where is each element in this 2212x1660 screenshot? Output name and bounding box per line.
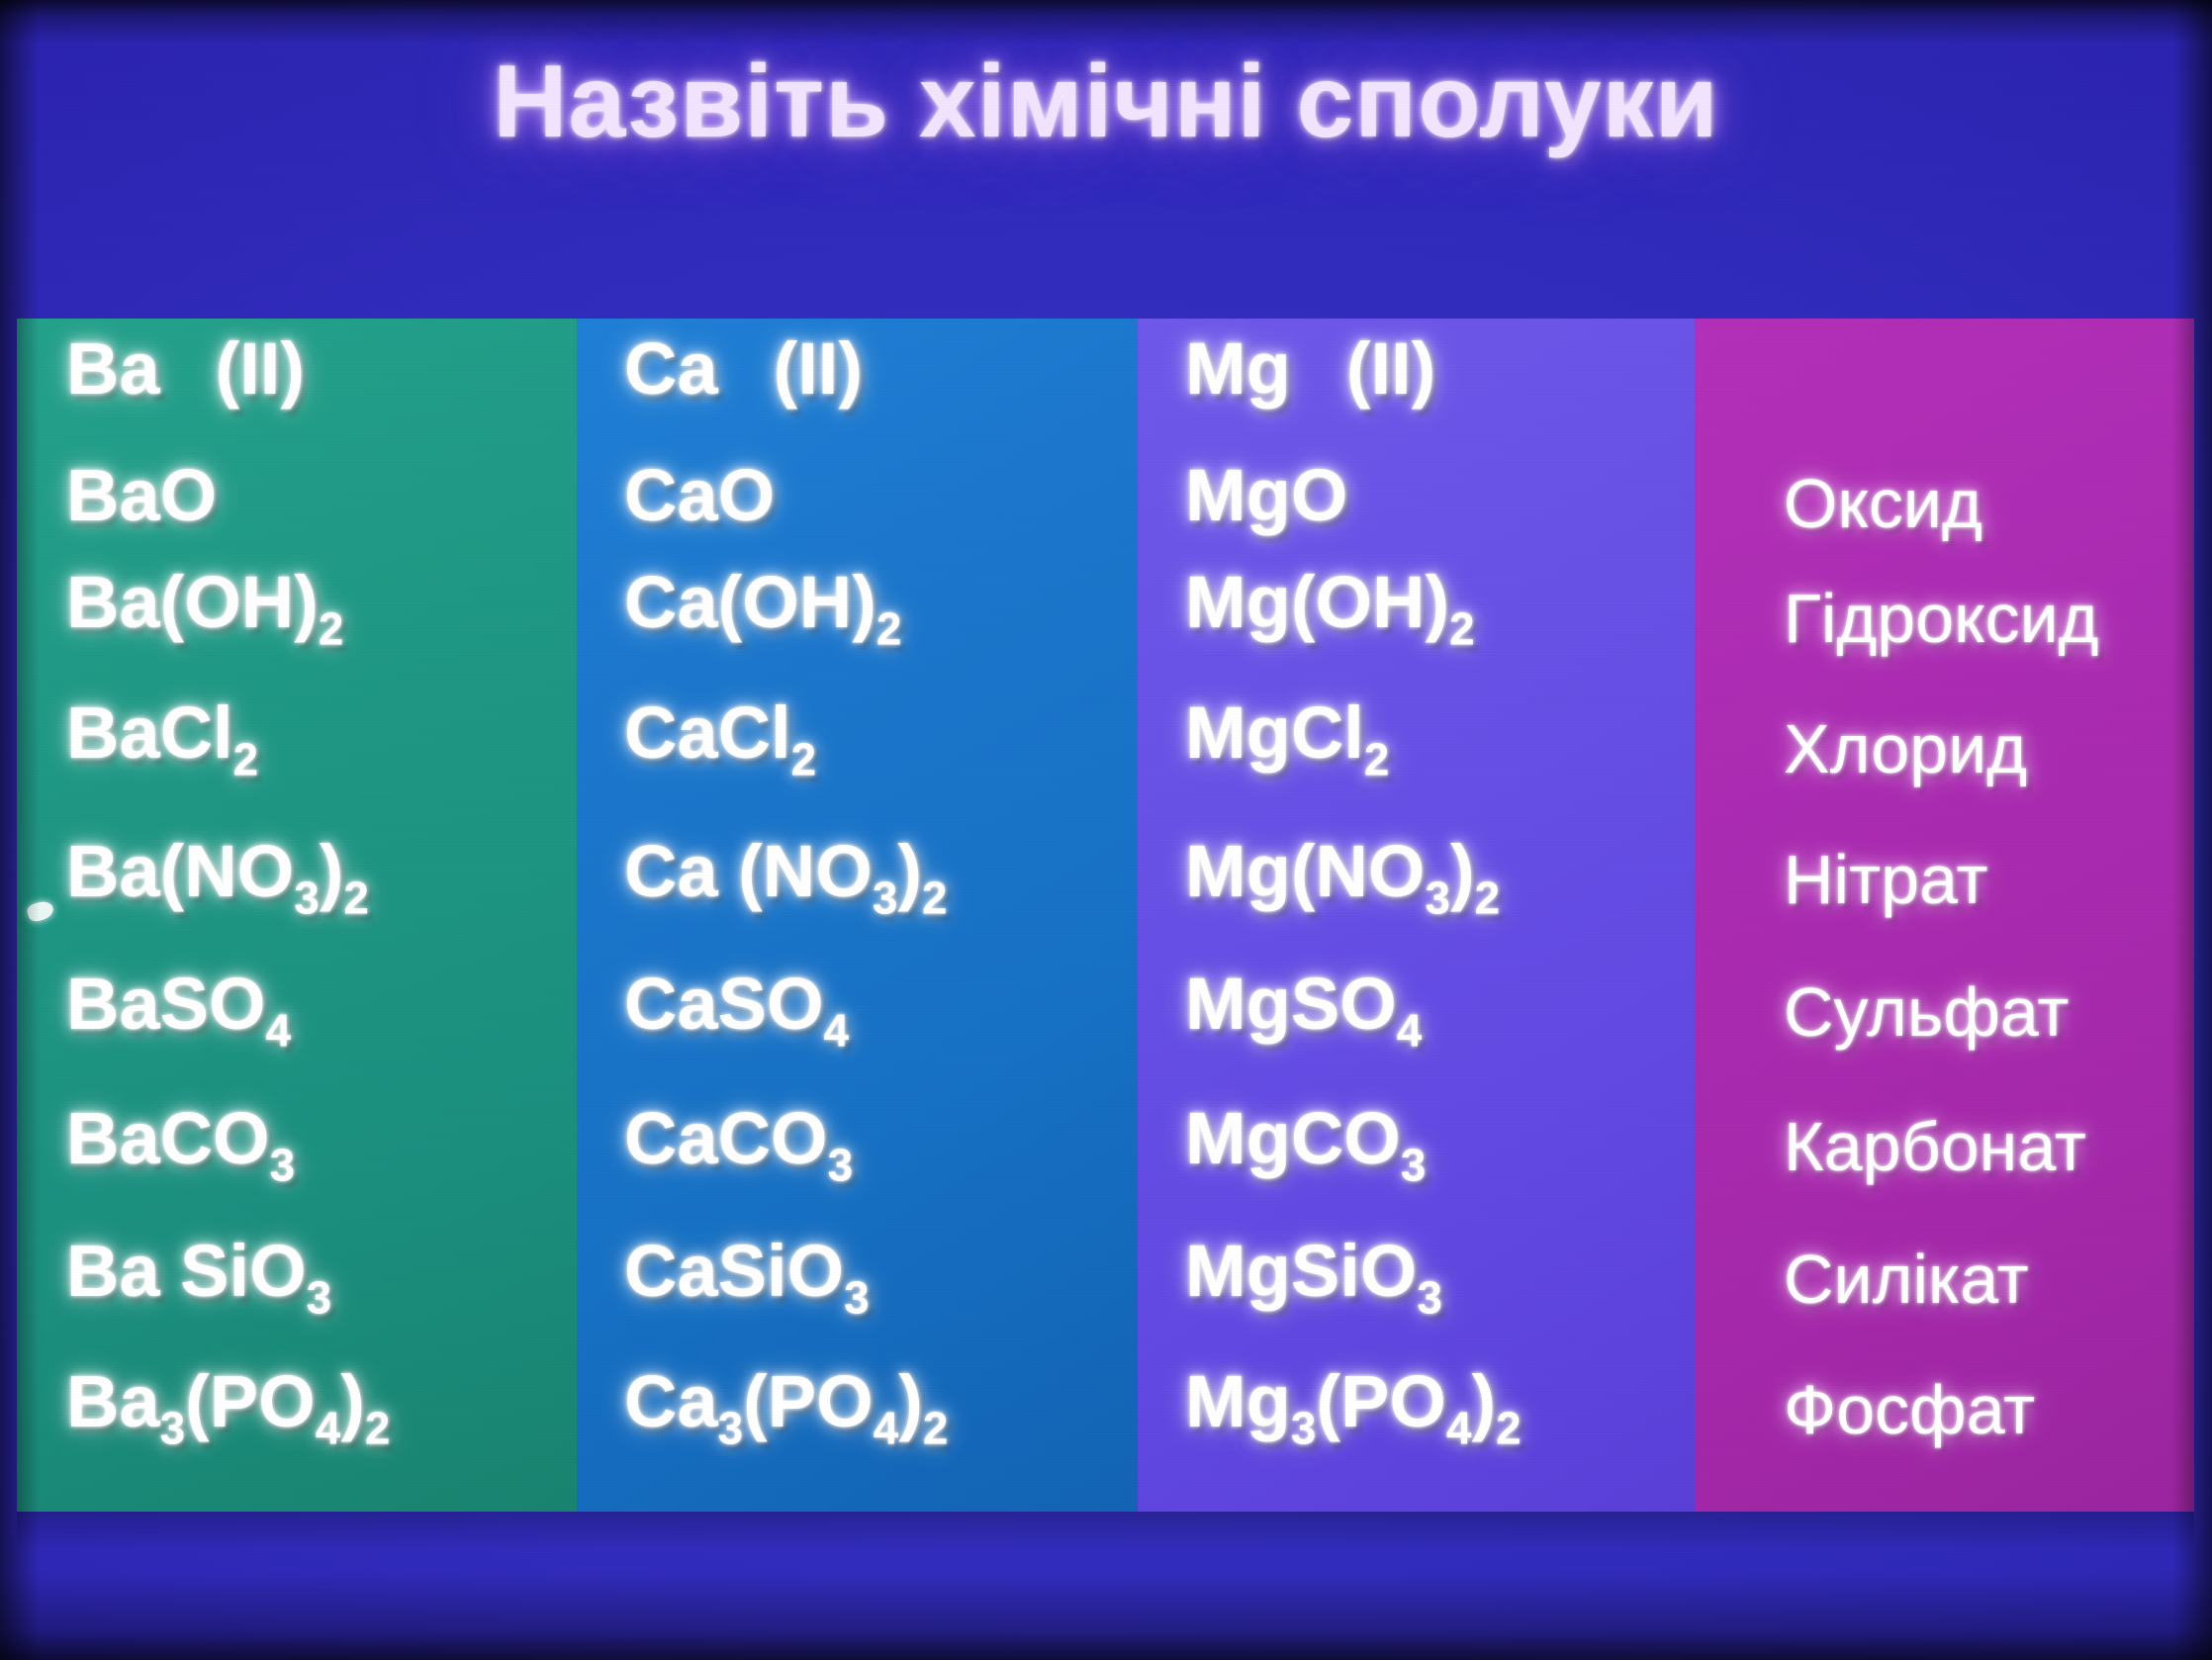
column-barium-header: Ba(II) [17,332,626,406]
formula-subscript: 2 [1475,872,1501,923]
formula-silicate: MgSiO3 [1138,1235,1742,1321]
formula-text: MgO [1185,454,1347,536]
formula-subscript: 2 [343,872,369,923]
formula-text: Ca (NO [624,830,873,912]
formula-text: Mg(OH) [1185,561,1449,643]
formula-text: ) [340,1360,365,1442]
column-compound-names: Оксид Гідроксид Хлорид Нітрат Сульфат Ка… [1695,319,2194,1512]
formula-text: (PO [185,1360,316,1442]
formula-phosphate: Ba3(PO4)2 [17,1365,626,1451]
name-silicate: Силікат [1695,1245,2212,1314]
formula-subscript: 2 [365,1402,391,1453]
name-hydroxide: Гідроксид [1695,584,2212,653]
name-oxide: Оксид [1695,469,2212,538]
formula-subscript: 4 [824,1004,850,1056]
name-nitrate: Нітрат [1695,845,2212,914]
formula-subscript: 4 [1446,1402,1472,1453]
element-symbol: Ba [66,327,160,410]
formula-nitrate: Ca (NO3)2 [577,835,1185,921]
formula-nitrate: Ba(NO3)2 [17,835,626,921]
formula-subscript: 2 [923,1402,949,1453]
formula-subscript: 4 [266,1004,292,1056]
formula-subscript: 3 [1401,1139,1427,1190]
formula-subscript: 3 [844,1271,870,1323]
formula-carbonate: CaCO3 [577,1102,1185,1188]
formula-text: ) [1450,830,1475,912]
formula-hydroxide: Ba(OH)2 [17,566,626,652]
formula-oxide: CaO [577,459,1185,532]
formula-subscript: 3 [828,1139,854,1190]
valence-label: (II) [1346,332,1435,406]
formula-subscript: 3 [1426,872,1451,923]
formula-subscript: 2 [1449,602,1475,654]
formula-subscript: 2 [791,733,817,784]
formula-subscript: 2 [876,602,902,654]
name-carbonate: Карбонат [1695,1112,2212,1181]
column-calcium: Ca(II) CaO Ca(OH)2 CaCl2 Ca (NO3)2 CaSO4… [577,319,1138,1512]
formula-subscript: 4 [874,1402,899,1453]
formula-text: Ba [66,1360,160,1442]
formula-text: Ba(NO [66,830,294,912]
formula-text: MgCO [1185,1097,1401,1179]
formula-sulfate: BaSO4 [17,968,626,1054]
formula-text: CaO [624,454,775,536]
formula-subscript: 4 [316,1402,341,1453]
column-magnesium: Mg(II) MgO Mg(OH)2 MgCl2 Mg(NO3)2 MgSO4 … [1138,319,1695,1512]
column-magnesium-header: Mg(II) [1138,332,1742,406]
compound-table: Ba(II) BaO Ba(OH)2 BaCl2 Ba(NO3)2 BaSO4 … [17,319,2194,1512]
formula-text: BaO [66,454,217,536]
element-symbol: Ca [624,327,718,410]
formula-chloride: BaCl2 [17,696,626,783]
formula-oxide: MgO [1138,459,1742,532]
formula-silicate: Ba SiO3 [17,1235,626,1321]
formula-text: CaSO [624,963,824,1045]
page-title: Назвіть хімічні сполуки [0,44,2212,161]
valence-label: (II) [774,332,863,406]
formula-silicate: CaSiO3 [577,1235,1185,1321]
formula-subscript: 3 [294,872,320,923]
formula-subscript: 2 [1364,733,1390,784]
column-magnesium-rows: Mg(II) MgO Mg(OH)2 MgCl2 Mg(NO3)2 MgSO4 … [1138,319,1695,1512]
band-shadow [17,1512,2194,1551]
formula-subscript: 3 [718,1402,744,1453]
column-barium-rows: Ba(II) BaO Ba(OH)2 BaCl2 Ba(NO3)2 BaSO4 … [17,319,577,1512]
formula-text: (PO [1316,1360,1446,1442]
formula-subscript: 2 [233,733,259,784]
formula-text: BaCl [66,692,233,774]
formula-text: CaCl [624,692,791,774]
formula-text: Ca [624,1360,718,1442]
formula-text: MgSO [1185,963,1397,1045]
formula-text: BaCO [66,1097,270,1179]
formula-subscript: 3 [307,1271,332,1323]
formula-text: ) [897,830,922,912]
column-calcium-header: Ca(II) [577,332,1185,406]
formula-hydroxide: Ca(OH)2 [577,566,1185,652]
name-chloride: Хлорид [1695,714,2212,784]
formula-hydroxide: Mg(OH)2 [1138,566,1742,652]
formula-text: MgSiO [1185,1230,1417,1312]
slide-canvas: Назвіть хімічні сполуки Ba(II) BaO Ba(OH… [0,0,2212,1660]
formula-nitrate: Mg(NO3)2 [1138,835,1742,921]
formula-phosphate: Mg3(PO4)2 [1138,1365,1742,1451]
formula-text: Ca(OH) [624,561,876,643]
formula-subscript: 3 [270,1139,296,1190]
formula-carbonate: BaCO3 [17,1102,626,1188]
element-symbol: Mg [1185,327,1291,410]
formula-carbonate: MgCO3 [1138,1102,1742,1188]
formula-subscript: 4 [1397,1004,1423,1056]
formula-sulfate: MgSO4 [1138,968,1742,1054]
formula-text: Ba SiO [66,1230,307,1312]
column-barium: Ba(II) BaO Ba(OH)2 BaCl2 Ba(NO3)2 BaSO4 … [17,319,577,1512]
name-phosphate: Фосфат [1695,1375,2212,1444]
formula-subscript: 2 [319,602,344,654]
formula-text: (PO [743,1360,874,1442]
formula-text: ) [898,1360,923,1442]
formula-text: BaSO [66,963,266,1045]
formula-phosphate: Ca3(PO4)2 [577,1365,1185,1451]
name-sulfate: Сульфат [1695,977,2212,1047]
formula-oxide: BaO [17,459,626,532]
formula-text: MgCl [1185,692,1364,774]
formula-subscript: 3 [873,872,898,923]
formula-text: CaCO [624,1097,828,1179]
formula-text: Mg [1185,1360,1291,1442]
formula-sulfate: CaSO4 [577,968,1185,1054]
formula-text: Mg(NO [1185,830,1426,912]
column-compound-names-rows: Оксид Гідроксид Хлорид Нітрат Сульфат Ка… [1695,319,2194,1512]
valence-label: (II) [216,332,305,406]
formula-chloride: CaCl2 [577,696,1185,783]
formula-text: Ba(OH) [66,561,319,643]
formula-text: CaSiO [624,1230,844,1312]
formula-subscript: 2 [1496,1402,1521,1453]
formula-text: ) [1471,1360,1496,1442]
formula-chloride: MgCl2 [1138,696,1742,783]
formula-text: ) [320,830,344,912]
formula-subscript: 3 [1291,1402,1317,1453]
formula-subscript: 2 [922,872,948,923]
formula-subscript: 3 [1417,1271,1442,1323]
column-calcium-rows: Ca(II) CaO Ca(OH)2 CaCl2 Ca (NO3)2 CaSO4… [577,319,1138,1512]
formula-subscript: 3 [160,1402,186,1453]
